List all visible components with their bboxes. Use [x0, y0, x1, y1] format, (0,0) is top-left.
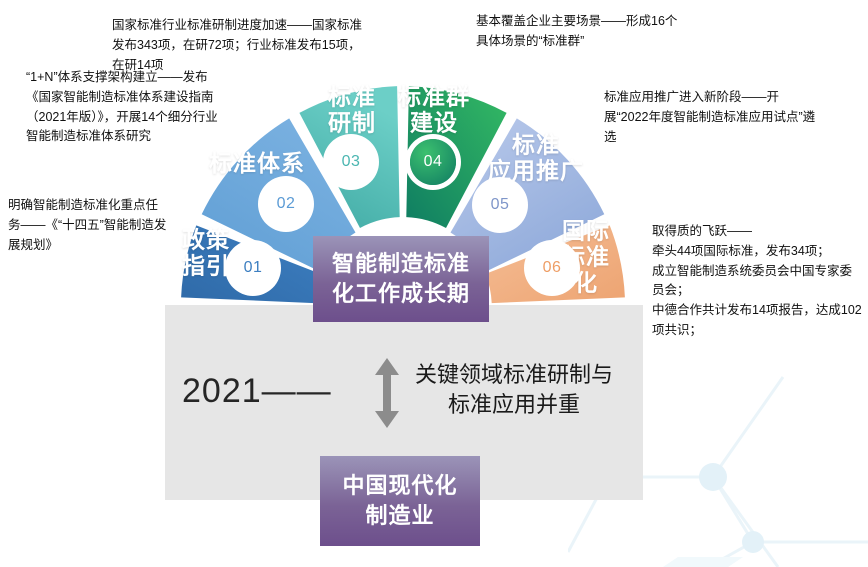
- arc-badge-03[interactable]: 03: [328, 139, 374, 185]
- growth-stage-box: 智能制造标准 化工作成长期: [313, 236, 489, 322]
- arc-label-01: 政策 指引: [182, 227, 230, 279]
- note-standard-application: 标准应用推广进入新阶段——开展“2022年度智能制造标准应用试点”遴选: [604, 88, 819, 147]
- note-standard-development: 国家标准行业标准研制进度加速——国家标准发布343项，在研72项；行业标准发布1…: [112, 16, 372, 75]
- arc-badge-04[interactable]: 04: [410, 139, 456, 185]
- arc-label-03: 标准 研制: [328, 84, 376, 136]
- year-label: 2021——: [182, 372, 332, 411]
- arc-badge-01[interactable]: 01: [230, 245, 276, 291]
- focus-headline: 关键领域标准研制与 标准应用并重: [404, 360, 624, 421]
- arc-badge-02[interactable]: 02: [263, 181, 309, 227]
- double-arrow-icon: [373, 358, 401, 428]
- arc-badge-06[interactable]: 06: [529, 245, 575, 291]
- arc-badge-05[interactable]: 05: [477, 182, 523, 228]
- arc-label-02: 标准体系: [209, 151, 305, 177]
- note-standard-group: 基本覆盖企业主要场景——形成16个具体场景的“标准群”: [476, 12, 686, 52]
- note-standard-system: “1+N”体系支撑架构建立——发布《国家智能制造标准体系建设指南（2021年版）…: [26, 68, 222, 147]
- arc-label-05: 标准 应用推广: [488, 132, 584, 184]
- infographic-canvas: 政策 指引 标准体系 标准 研制 标准群 建设 标准 应用推广 国际 标准 化 …: [0, 0, 868, 567]
- modern-manufacturing-box: 中国现代化 制造业: [320, 456, 480, 546]
- arc-label-04: 标准群 建设: [398, 84, 470, 136]
- note-policy-guidance: 明确智能制造标准化重点任务——《“十四五”智能制造发展规划》: [8, 196, 170, 255]
- note-international-standard: 取得质的飞跃—— 牵头44项国际标准，发布34项； 成立智能制造系统委员会中国专…: [652, 222, 862, 341]
